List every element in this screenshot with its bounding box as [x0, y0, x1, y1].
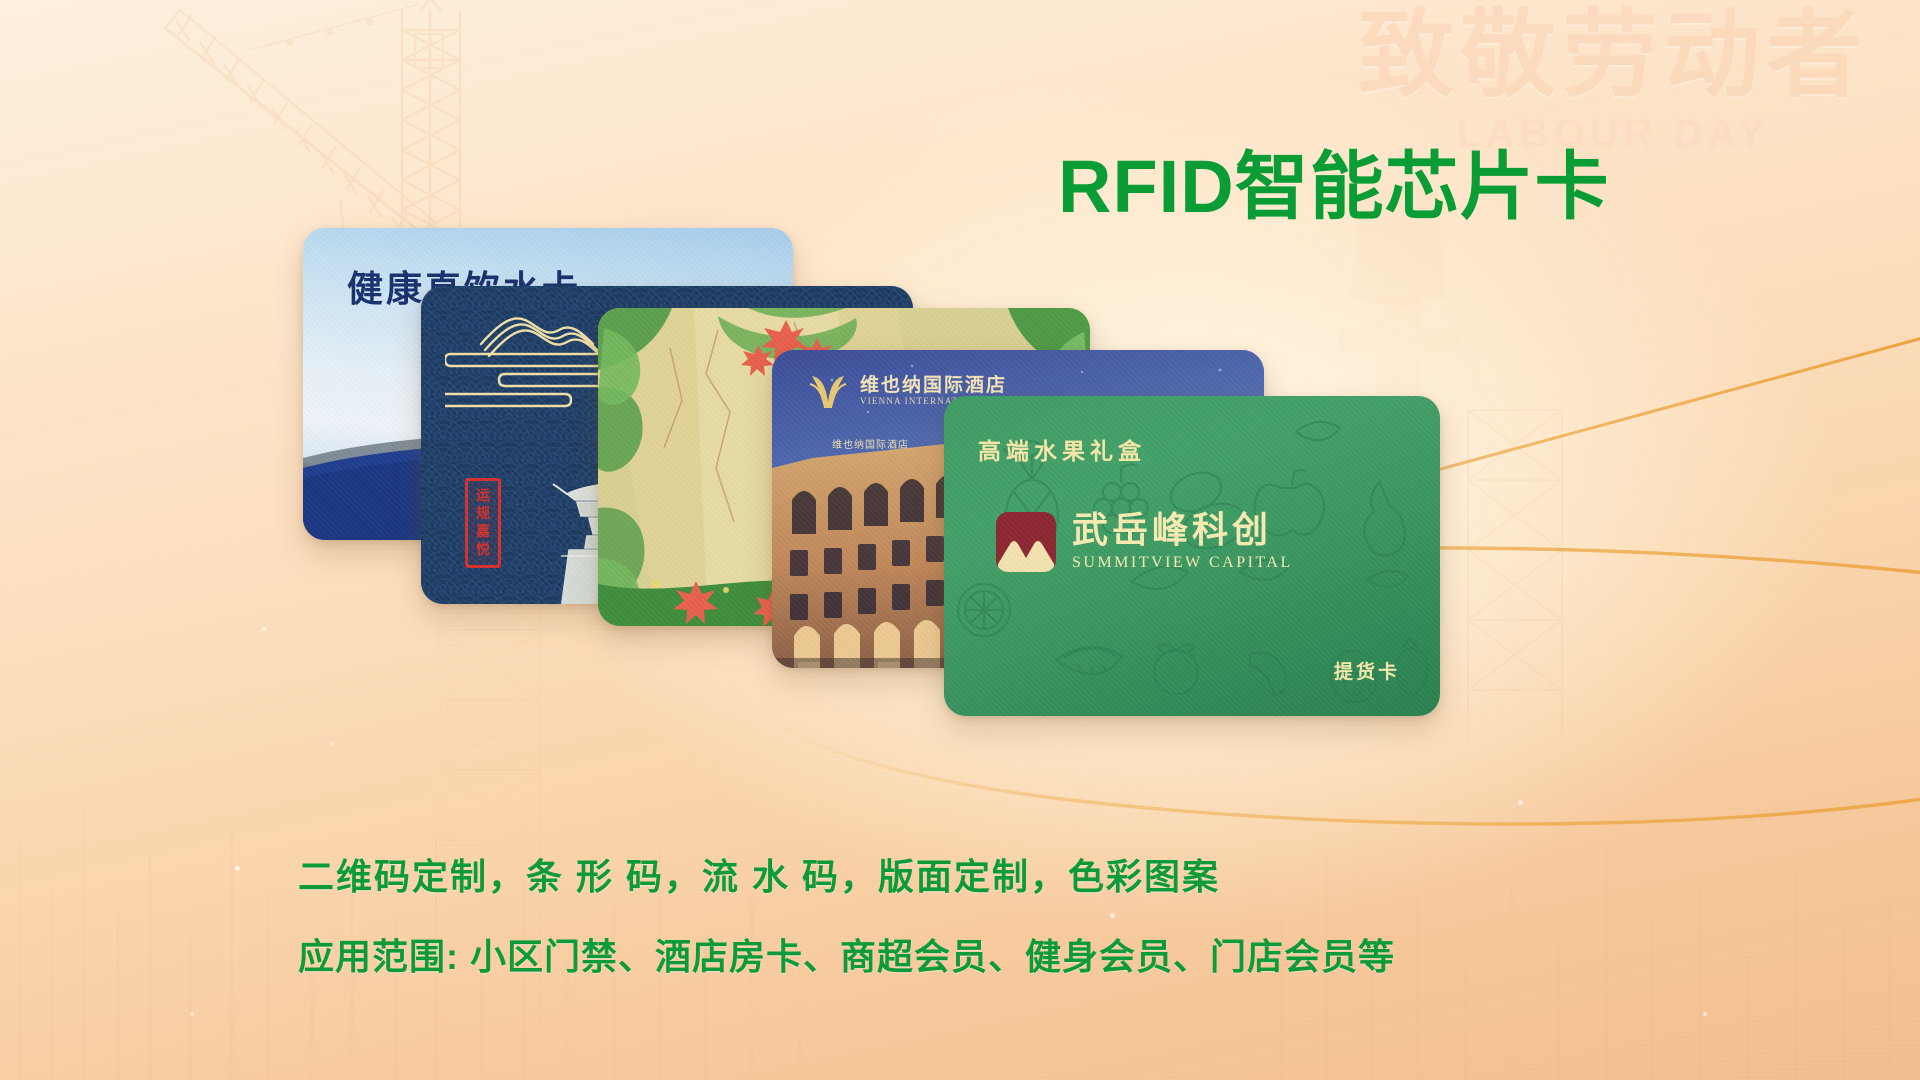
- summitview-brand-lockup: 武岳峰科创 SUMMITVIEW CAPITAL: [996, 512, 1293, 572]
- red-seal-stamp: 运 规 嘉 悦: [465, 478, 501, 568]
- mountain-logo-icon: [996, 512, 1056, 572]
- summitview-brand-cn: 武岳峰科创: [1072, 512, 1293, 548]
- summitview-logo-mark: [996, 512, 1056, 572]
- card-fruit-gift[interactable]: 高端水果礼盒 武岳峰科创 SUMMITVIEW CAPITAL 提货卡: [944, 396, 1440, 716]
- hotel-secondary-mark: 维也纳国际酒店: [832, 436, 909, 451]
- copy-line-1: 二维码定制，条 形 码，流 水 码，版面定制，色彩图案: [298, 848, 1395, 900]
- vienna-v-logo-icon: [808, 372, 848, 410]
- banner-stage: 致敬劳动者 LABOUR DAY RFID智能芯片卡 健康直饮水卡: [0, 0, 1920, 1080]
- seal-text: 运 规 嘉 悦: [468, 486, 498, 558]
- copy-line-2: 应用范围: 小区门禁、酒店房卡、商超会员、健身会员、门店会员等: [298, 928, 1395, 980]
- card5-top-label: 高端水果礼盒: [978, 432, 1146, 466]
- card5-badge: 提货卡: [1334, 657, 1400, 684]
- summitview-brand-en: SUMMITVIEW CAPITAL: [1072, 554, 1293, 572]
- feature-copy-block: 二维码定制，条 形 码，流 水 码，版面定制，色彩图案 应用范围: 小区门禁、酒…: [298, 848, 1395, 980]
- hotel-brand-cn: 维也纳国际酒店: [860, 376, 1031, 396]
